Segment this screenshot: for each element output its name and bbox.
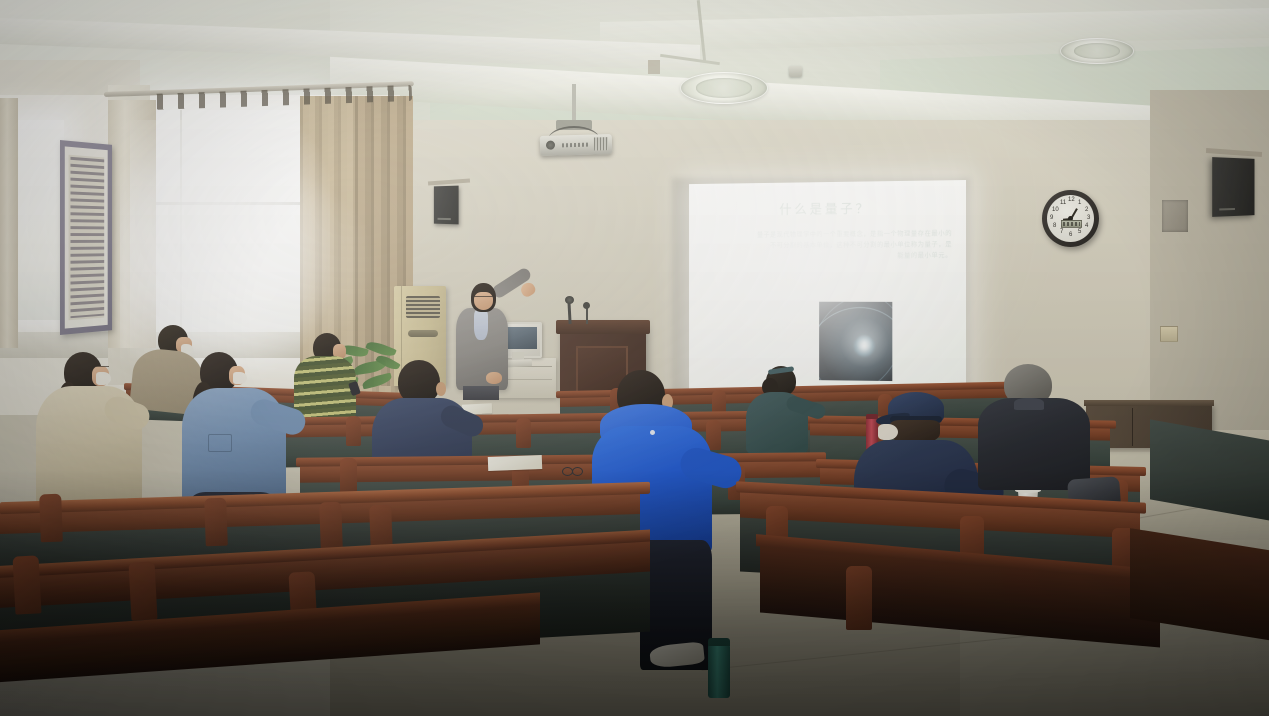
bench-arm [204,498,228,547]
calligraphy-scroll-paper [69,155,105,321]
glasses-icon [474,296,493,301]
bench-arm [13,555,42,614]
slide-quantum-image [819,302,892,381]
calligraphy-scroll-frame [60,140,112,335]
presenter-legs [463,386,499,400]
presenter-face [474,292,493,310]
microphone-icon [565,296,574,304]
curtain-left [0,98,18,348]
ceiling-light-2 [680,72,768,104]
wall-clock: 12 1 2 3 4 5 6 7 8 9 10 11 [1042,190,1099,247]
bench-arm [346,416,361,446]
bench-arm [319,502,343,551]
glasses-icon [95,366,109,372]
green-thermos-cap [708,638,730,646]
smoke-detector-icon [789,66,802,77]
collar [1014,398,1044,410]
bench-arm [39,494,63,543]
projector-vent [594,137,608,150]
bench-arm [846,566,872,630]
ceiling-projector [540,134,612,156]
eyeglasses-icon [562,466,582,475]
curtain-middle [108,100,156,348]
mask-icon [233,372,247,384]
projector-mount-pole [572,84,576,124]
wall-outlet [1160,326,1178,342]
bench-arm [340,458,357,494]
wall-speaker-right [1212,157,1254,217]
hoodie-drawstring [650,430,655,435]
wall-vent-panel [1162,200,1188,232]
wall-speaker-left [434,186,459,225]
torso-striped [294,356,356,418]
ceiling-light-3 [1060,38,1134,64]
bench-arm [516,418,531,448]
window-main [150,110,310,340]
bench-arm [129,561,158,620]
slide-title: 什么是量子？ [689,197,966,219]
presenter-left-hand [486,372,502,384]
microphone-icon-2 [583,302,590,309]
mask-icon [96,372,111,385]
mask-icon [878,424,898,440]
presenter-shirt [474,310,488,340]
ceiling-junction-box [648,60,660,74]
projection-screen: 什么是量子？ 量子是现代物理学中的一个重要概念，是指一个物理量存在最小的 不可分… [689,180,966,398]
notebook-open [488,455,542,471]
projector-lens [546,141,555,150]
torso [978,398,1090,490]
slide-body-text: 量子是现代物理学中的一个重要概念，是指一个物理量存在最小的 不可分割的基本单位，… [702,228,952,262]
denim-pocket [208,434,232,452]
green-thermos [708,644,730,698]
clock-digital-display [1061,220,1082,228]
photo-scene: 12 1 2 3 4 5 6 7 8 9 10 11 [0,0,1269,716]
ear [436,382,446,396]
